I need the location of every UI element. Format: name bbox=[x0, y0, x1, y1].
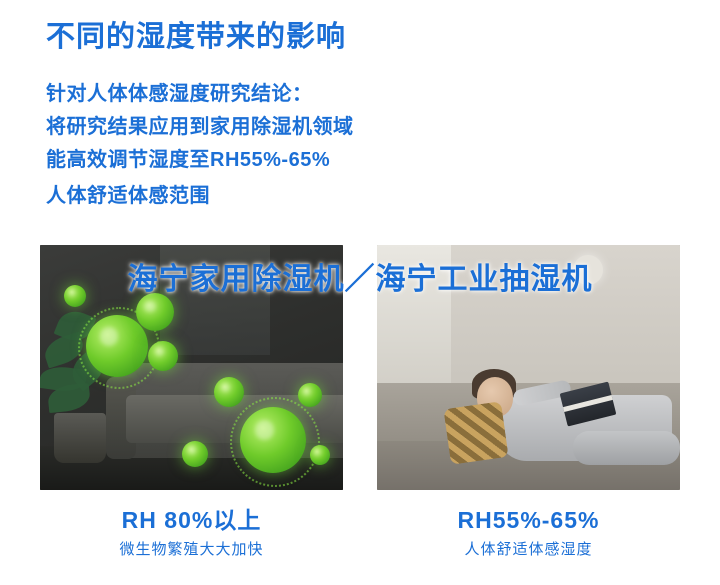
microbe-blob bbox=[86, 315, 148, 377]
intro-text-block: 针对人体体感湿度研究结论： 将研究结果应用到家用除湿机领域 能高效调节湿度至RH… bbox=[46, 78, 686, 213]
microbe-blob bbox=[214, 377, 244, 407]
room-window bbox=[160, 245, 270, 355]
caption-right-title: RH55%-65% bbox=[377, 505, 680, 535]
microbe-blob bbox=[64, 285, 86, 307]
microbe-blob bbox=[148, 341, 178, 371]
caption-row: RH 80%以上 微生物繁殖大大加快 RH55%-65% 人体舒适体感湿度 bbox=[40, 505, 680, 571]
patterned-pillow bbox=[443, 401, 508, 465]
photo-row bbox=[40, 245, 680, 490]
microbe-blob bbox=[182, 441, 208, 467]
page-title: 不同的湿度带来的影响 bbox=[46, 18, 346, 56]
intro-line-4: 人体舒适体感范围 bbox=[46, 180, 686, 213]
living-room-window bbox=[377, 245, 451, 405]
caption-right-subtitle: 人体舒适体感湿度 bbox=[377, 539, 680, 561]
microbe-blob bbox=[298, 383, 322, 407]
intro-line-3: 能高效调节湿度至RH55%-65% bbox=[46, 144, 686, 177]
caption-right: RH55%-65% 人体舒适体感湿度 bbox=[377, 505, 680, 561]
intro-line-1: 针对人体体感湿度研究结论： bbox=[46, 78, 686, 111]
plant-pot bbox=[54, 413, 106, 463]
photo-dark-room-with-microbes bbox=[40, 245, 343, 490]
microbe-blob bbox=[136, 293, 174, 331]
caption-left-title: RH 80%以上 bbox=[40, 505, 343, 535]
person-legs bbox=[573, 431, 680, 465]
caption-left-subtitle: 微生物繁殖大大加快 bbox=[40, 539, 343, 561]
photo-woman-reading-on-sofa bbox=[377, 245, 680, 490]
poster-root: 不同的湿度带来的影响 针对人体体感湿度研究结论： 将研究结果应用到家用除湿机领域… bbox=[0, 0, 720, 585]
intro-line-2: 将研究结果应用到家用除湿机领域 bbox=[46, 111, 686, 144]
microbe-blob bbox=[310, 445, 330, 465]
ceiling-lamp bbox=[573, 255, 603, 285]
microbe-blob bbox=[240, 407, 306, 473]
caption-left: RH 80%以上 微生物繁殖大大加快 bbox=[40, 505, 343, 561]
